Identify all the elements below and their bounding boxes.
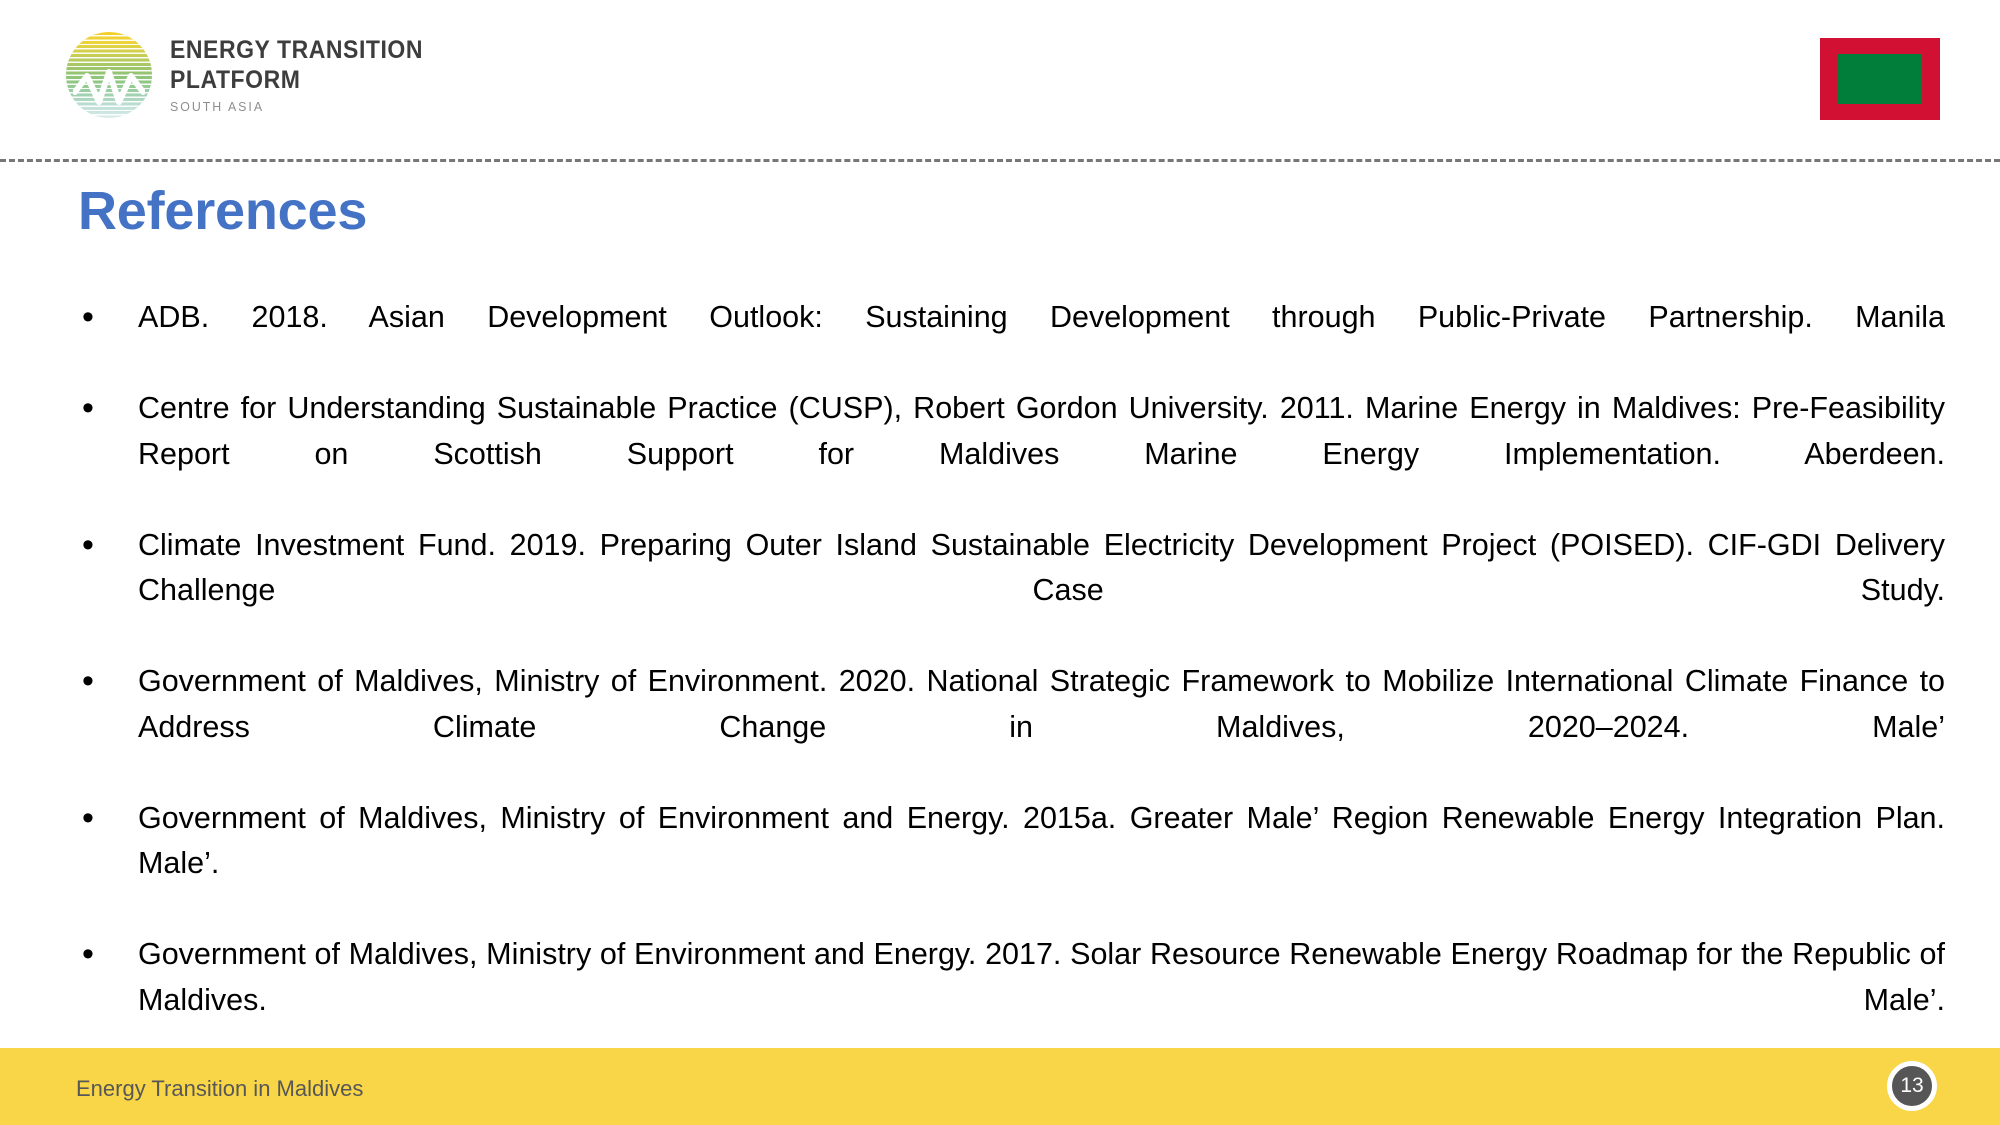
slide-header: ENERGY TRANSITION PLATFORM SOUTH ASIA xyxy=(0,0,2000,160)
reference-text: Climate Investment Fund. 2019. Preparing… xyxy=(138,523,1945,660)
reference-text: ADB. 2018. Asian Development Outlook: Su… xyxy=(138,295,1945,386)
bullet-icon: • xyxy=(70,295,138,340)
logo-subtitle: SOUTH ASIA xyxy=(170,100,431,113)
logo-title-line2: PLATFORM xyxy=(170,68,423,93)
page-title: References xyxy=(78,180,367,242)
slide: ENERGY TRANSITION PLATFORM SOUTH ASIA Re… xyxy=(0,0,2000,1125)
header-divider xyxy=(0,159,2000,162)
list-item: • Centre for Understanding Sustainable P… xyxy=(70,386,1945,523)
references-list: • ADB. 2018. Asian Development Outlook: … xyxy=(70,295,1945,1125)
list-item: • Climate Investment Fund. 2019. Prepari… xyxy=(70,523,1945,660)
flag-green-field xyxy=(1838,54,1922,104)
list-item: • Government of Maldives, Ministry of En… xyxy=(70,796,1945,933)
brand-logo: ENERGY TRANSITION PLATFORM SOUTH ASIA xyxy=(66,32,445,118)
maldives-flag-icon xyxy=(1820,38,1940,120)
bullet-icon: • xyxy=(70,386,138,431)
logo-w-mountain-icon xyxy=(73,62,145,112)
footer-label: Energy Transition in Maldives xyxy=(76,1076,363,1102)
list-item: • Government of Maldives, Ministry of En… xyxy=(70,659,1945,796)
crescent-icon xyxy=(1866,61,1902,97)
bullet-icon: • xyxy=(70,659,138,704)
logo-title-line1: ENERGY TRANSITION xyxy=(170,38,423,63)
logo-wordmark: ENERGY TRANSITION PLATFORM SOUTH ASIA xyxy=(170,38,445,113)
page-number-badge: 13 xyxy=(1887,1061,1937,1111)
slide-footer: Energy Transition in Maldives xyxy=(0,1048,2000,1125)
bullet-icon: • xyxy=(70,932,138,977)
energy-transition-platform-logo-icon xyxy=(66,32,152,118)
list-item: • ADB. 2018. Asian Development Outlook: … xyxy=(70,295,1945,386)
bullet-icon: • xyxy=(70,796,138,841)
bullet-icon: • xyxy=(70,523,138,568)
reference-text: Centre for Understanding Sustainable Pra… xyxy=(138,386,1945,523)
reference-text: Government of Maldives, Ministry of Envi… xyxy=(138,659,1945,796)
reference-text: Government of Maldives, Ministry of Envi… xyxy=(138,796,1945,933)
